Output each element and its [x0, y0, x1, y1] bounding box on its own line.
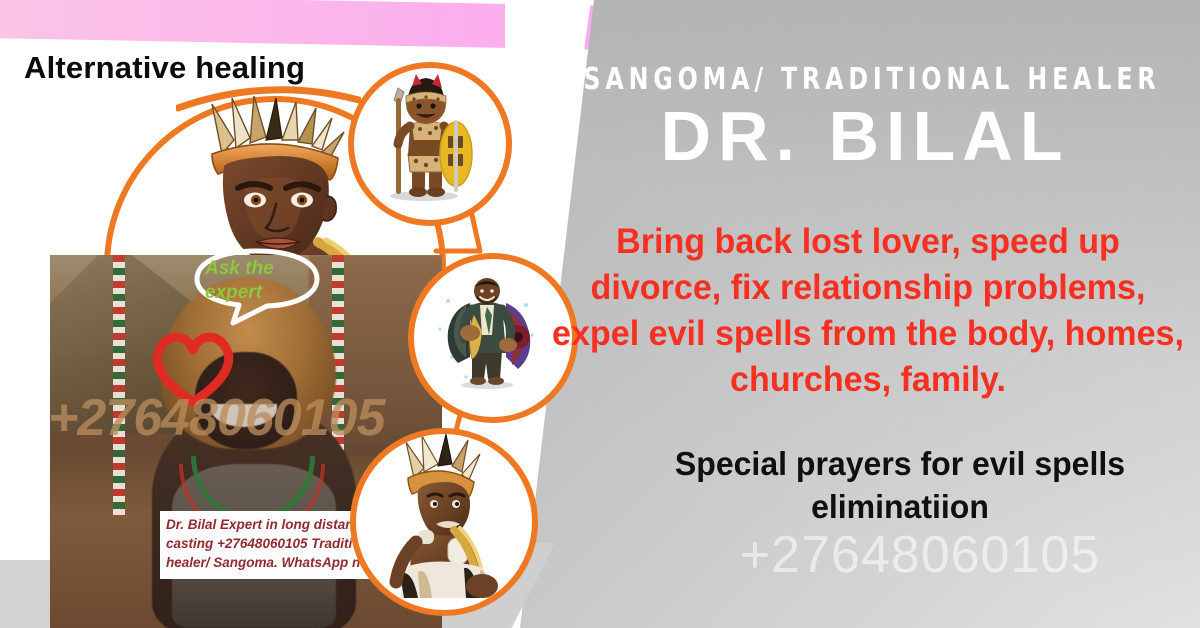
services-text: Bring back lost lover, speed up divorce,… — [551, 218, 1185, 403]
doctor-name: DR. BILAL — [545, 100, 1185, 174]
caption-line-2: casting +27648060105 Traditi — [166, 534, 382, 553]
page-title: Alternative healing — [24, 50, 305, 86]
kicker-text: SANGOMA/ TRADITIONAL HEALER — [583, 62, 1146, 97]
special-prayers-text: Special prayers for evil spells eliminat… — [609, 443, 1191, 529]
poster-canvas: Alternative healing — [0, 0, 1200, 628]
phone-number-watermark: +27648060105 — [640, 525, 1200, 585]
medallion-kneeling-sangoma — [350, 428, 538, 616]
caption-line-3: healer/ Sangoma. WhatsApp n — [166, 553, 382, 572]
speech-bubble-text: Ask the expert — [205, 257, 315, 305]
medallion-zulu-warrior — [348, 62, 512, 226]
